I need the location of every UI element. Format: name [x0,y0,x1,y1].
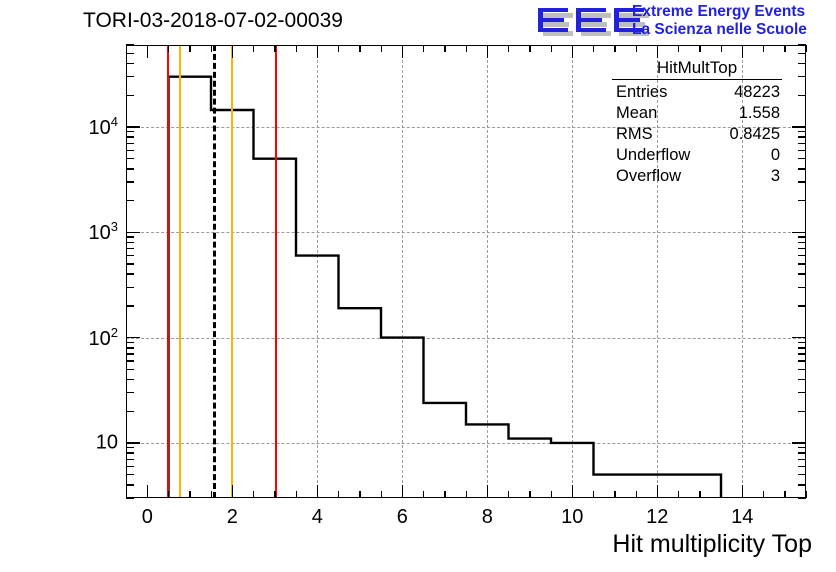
stats-key: Mean [616,103,657,124]
eee-logo-line1: Extreme Energy Events [632,3,807,21]
axis-tick [721,45,722,52]
stats-rule [612,79,782,80]
axis-tick [798,484,806,485]
y-tick-label: 104 [36,114,118,140]
axis-tick [487,485,488,498]
stats-key: Underflow [616,145,690,166]
stats-value: 0 [771,145,780,166]
axis-tick [798,447,806,448]
y-tick-label: 103 [36,219,118,245]
axis-tick [126,242,134,243]
x-tick-label: 14 [731,506,753,529]
axis-tick [721,491,722,498]
axis-tick [317,485,318,498]
axis-tick [487,45,488,58]
stats-row-rms: RMS 0.8425 [612,124,782,145]
axis-tick [798,305,806,306]
axis-tick [798,150,806,151]
axis-tick [126,95,134,96]
axis-tick [444,45,445,52]
axis-tick [551,491,552,498]
axis-tick [317,45,318,58]
axis-tick [798,379,806,380]
axis-tick [798,242,806,243]
axis-tick [126,76,134,77]
axis-tick [126,200,134,201]
stats-key: RMS [616,124,653,145]
axis-tick [126,447,134,448]
axis-tick [806,45,807,52]
axis-tick [126,442,140,443]
axis-tick [529,491,530,498]
axis-tick [763,45,764,52]
axis-tick [211,491,212,498]
axis-tick [126,347,134,348]
axis-tick [798,136,806,137]
axis-tick [126,484,134,485]
axis-tick [444,491,445,498]
axis-tick [232,45,233,58]
axis-tick [126,248,134,249]
axis-tick [798,76,806,77]
axis-tick [551,45,552,52]
stats-title: HitMultTop [612,58,782,79]
axis-tick [784,491,785,498]
axis-tick [798,168,806,169]
axis-tick [572,485,573,498]
page-title: TORI-03-2018-07-02-00039 [83,9,343,33]
axis-tick [798,411,806,412]
axis-tick [508,45,509,52]
axis-tick [274,491,275,498]
stats-value: 1.558 [739,103,780,124]
axis-tick [614,45,615,52]
axis-tick [274,45,275,52]
y-tick-label: 10 [36,431,118,454]
axis-tick [232,485,233,498]
axis-tick [678,491,679,498]
x-tick-label: 2 [227,506,238,529]
axis-tick [699,491,700,498]
axis-tick [126,337,140,338]
axis-tick [798,466,806,467]
stats-value: 3 [771,166,780,187]
axis-tick [798,131,806,132]
axis-tick [126,181,134,182]
axis-tick [126,126,140,127]
axis-tick [798,497,806,498]
stats-box: HitMultTop Entries 48223 Mean 1.558 RMS … [612,58,782,187]
axis-tick [126,150,134,151]
axis-tick [126,158,134,159]
eee-logo-line2: La Scienza nelle Scuole [632,21,807,39]
axis-tick [126,143,134,144]
axis-tick [798,369,806,370]
axis-tick [798,347,806,348]
axis-tick [742,45,743,58]
axis-tick [168,491,169,498]
axis-tick [126,168,134,169]
axis-tick [126,255,134,256]
axis-tick [593,45,594,52]
axis-tick [126,353,134,354]
axis-tick [792,126,806,127]
axis-tick [402,45,403,58]
axis-tick [189,491,190,498]
axis-tick [798,200,806,201]
x-tick-label: 8 [482,506,493,529]
axis-tick [798,158,806,159]
x-tick-label: 10 [561,506,583,529]
axis-tick [798,459,806,460]
axis-tick [402,485,403,498]
axis-tick [798,287,806,288]
axis-tick [798,236,806,237]
x-tick-label: 4 [312,506,323,529]
stats-row-overflow: Overflow 3 [612,166,782,187]
axis-tick [126,497,134,498]
axis-tick [126,411,134,412]
root-canvas: TORI-03-2018-07-02-00039 [0,0,836,572]
eee-logo: Extreme Energy Events La Scienza nelle S… [534,3,834,41]
axis-tick [636,45,637,52]
axis-tick [126,236,134,237]
axis-tick [147,485,148,498]
axis-tick [126,232,140,233]
axis-tick [657,45,658,58]
axis-tick [572,45,573,58]
axis-tick [126,44,134,45]
axis-tick [798,263,806,264]
axis-tick [798,44,806,45]
axis-tick [296,491,297,498]
axis-tick [614,491,615,498]
axis-tick [678,45,679,52]
axis-tick [763,491,764,498]
axis-tick [798,342,806,343]
axis-tick [253,45,254,52]
axis-tick [126,379,134,380]
axis-tick [798,63,806,64]
axis-tick [359,491,360,498]
axis-tick [359,45,360,52]
axis-tick [798,248,806,249]
axis-tick [636,491,637,498]
axis-tick [798,474,806,475]
axis-tick [466,491,467,498]
axis-tick [381,491,382,498]
axis-tick [147,45,148,58]
axis-tick [798,95,806,96]
axis-tick [798,255,806,256]
axis-tick [792,337,806,338]
axis-tick [798,273,806,274]
axis-tick [211,45,212,52]
axis-tick [126,45,127,52]
axis-tick [423,491,424,498]
axis-tick [126,360,134,361]
y-tick-label: 102 [36,325,118,351]
axis-tick [126,474,134,475]
axis-tick [798,392,806,393]
axis-tick [466,45,467,52]
axis-tick [423,45,424,52]
axis-tick [126,392,134,393]
axis-tick [126,53,134,54]
axis-tick [338,45,339,52]
x-axis-title: Hit multiplicity Top [612,530,812,559]
x-tick-label: 6 [397,506,408,529]
axis-tick [126,369,134,370]
axis-tick [798,353,806,354]
axis-tick [657,485,658,498]
axis-tick [126,136,134,137]
axis-tick [126,131,134,132]
stats-row-mean: Mean 1.558 [612,103,782,124]
axis-tick [253,491,254,498]
axis-tick [798,143,806,144]
axis-tick [189,45,190,52]
axis-tick [126,63,134,64]
axis-tick [798,360,806,361]
stats-value: 0.8425 [730,124,780,145]
axis-tick [126,287,134,288]
axis-tick [296,45,297,52]
axis-tick [126,466,134,467]
stats-key: Overflow [616,166,681,187]
axis-tick [699,45,700,52]
axis-tick [798,181,806,182]
stats-key: Entries [616,82,667,103]
axis-tick [168,45,169,52]
axis-tick [593,491,594,498]
axis-tick [792,442,806,443]
axis-tick [126,263,134,264]
axis-tick [338,491,339,498]
axis-tick [126,273,134,274]
axis-tick [126,452,134,453]
axis-tick [529,45,530,52]
axis-tick [798,53,806,54]
axis-tick [126,459,134,460]
axis-tick [126,342,134,343]
axis-tick [792,232,806,233]
stats-row-underflow: Underflow 0 [612,145,782,166]
axis-tick [381,45,382,52]
axis-tick [784,45,785,52]
x-tick-label: 0 [142,506,153,529]
stats-row-entries: Entries 48223 [612,82,782,103]
axis-tick [742,485,743,498]
axis-tick [508,491,509,498]
axis-tick [126,305,134,306]
eee-logo-text: Extreme Energy Events La Scienza nelle S… [632,3,807,38]
x-tick-label: 12 [646,506,668,529]
axis-tick [798,452,806,453]
stats-value: 48223 [734,82,780,103]
